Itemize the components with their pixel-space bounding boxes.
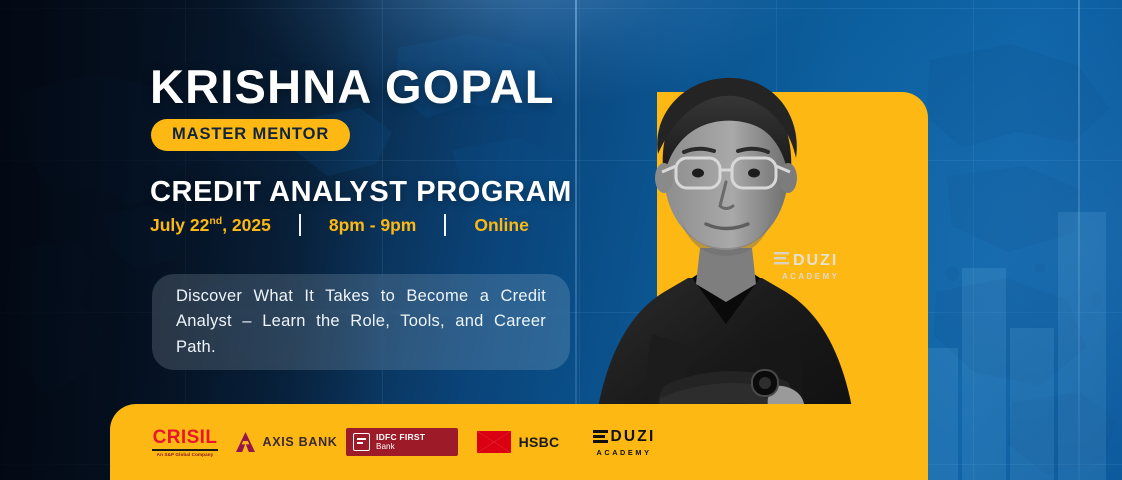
meta-divider (444, 214, 446, 236)
idfc-first-icon (353, 433, 370, 451)
partner-logo-list: CRISIL An S&P Global Company AXIS BANK I… (110, 428, 670, 457)
meta-divider (299, 214, 301, 236)
hsbc-icon (477, 431, 511, 453)
axis-bank-wordmark: AXIS BANK (262, 435, 337, 449)
event-date-ordinal: nd (209, 215, 222, 227)
partner-logo-hsbc: HSBC (458, 431, 578, 453)
shirt-eduzi-logo: DUZI ACADEMY (774, 252, 839, 281)
description-card: Discover What It Takes to Become a Credi… (152, 274, 570, 370)
idfc-line-1: IDFC FIRST (376, 433, 425, 443)
partner-logo-axis-bank: AXIS BANK (228, 432, 346, 452)
bar-chart-graphic (912, 180, 1122, 480)
chart-bar (1010, 328, 1054, 480)
idfc-wordmark: IDFC FIRST Bank (376, 433, 425, 452)
event-meta: July 22nd, 2025 8pm - 9pm Online (150, 214, 529, 236)
event-date-year: , 2025 (222, 215, 271, 235)
crisil-tagline: An S&P Global Company (157, 452, 214, 457)
description-text: Discover What It Takes to Become a Credi… (152, 284, 570, 359)
svg-text:DUZI: DUZI (793, 252, 838, 269)
event-time: 8pm - 9pm (329, 215, 417, 236)
chart-bar (962, 268, 1006, 480)
hsbc-wordmark: HSBC (519, 434, 560, 450)
event-date-number: July 22 (150, 215, 209, 235)
speaker-name: KRISHNA GOPAL (150, 59, 555, 114)
webinar-banner: DUZI ACADEMY KRISHNA GOPAL MASTER MENTOR… (0, 0, 1122, 480)
axis-bank-icon (236, 432, 255, 452)
partner-logo-crisil: CRISIL An S&P Global Company (142, 428, 228, 457)
crisil-wordmark: CRISIL (153, 428, 218, 447)
event-mode: Online (474, 215, 528, 236)
partner-logo-bar: CRISIL An S&P Global Company AXIS BANK I… (110, 404, 928, 480)
eduzi-subtitle: ACADEMY (596, 448, 651, 457)
role-badge: MASTER MENTOR (151, 119, 350, 151)
crisil-rule (152, 449, 218, 451)
program-title: CREDIT ANALYST PROGRAM (150, 176, 572, 209)
eduzi-wordmark: DUZI (611, 428, 656, 446)
eduzi-wordmark-row: DUZI (593, 428, 656, 446)
svg-text:ACADEMY: ACADEMY (782, 272, 839, 281)
eduzi-e-icon (593, 430, 608, 442)
partner-logo-eduzi-academy: DUZI ACADEMY (578, 428, 670, 457)
event-date: July 22nd, 2025 (150, 215, 271, 236)
idfc-line-2: Bank (376, 442, 425, 451)
partner-logo-idfc-first-bank: IDFC FIRST Bank (346, 428, 458, 457)
chart-bar (1058, 212, 1106, 480)
